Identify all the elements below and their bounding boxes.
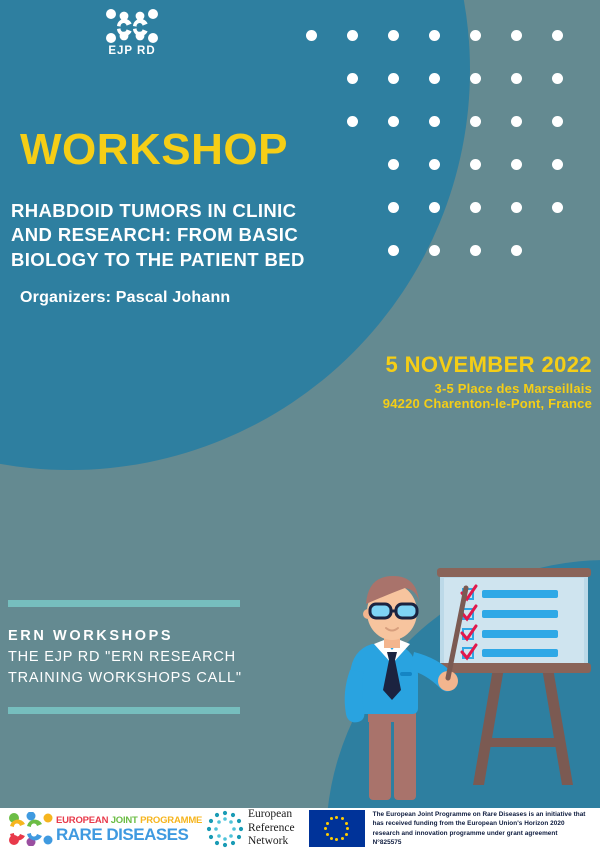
decorative-dot	[511, 159, 522, 170]
organizers-text: Organizers: Pascal Johann	[20, 289, 230, 307]
footer-bar: EUROPEAN JOINT PROGRAMME RARE DISEASES E…	[0, 808, 600, 849]
eu-flag-star	[346, 827, 349, 830]
eu-flag-star	[341, 817, 344, 820]
eu-flag-star	[335, 816, 338, 819]
decorative-dot	[511, 202, 522, 213]
eu-funding-line: N°825575	[373, 838, 586, 847]
divider-top	[8, 600, 240, 607]
decorative-dot	[429, 245, 440, 256]
decorative-dot	[470, 30, 481, 41]
eu-flag-star	[335, 838, 338, 841]
ern-heading: ERN WORKSHOPS	[8, 628, 173, 644]
decorative-dot	[388, 73, 399, 84]
event-date: 5 NOVEMBER 2022	[383, 352, 592, 378]
decorative-dot	[470, 116, 481, 127]
page-title: WORKSHOP	[20, 128, 288, 172]
decorative-dot	[429, 202, 440, 213]
event-details: 5 NOVEMBER 2022 3-5 Place des Marseillai…	[383, 352, 592, 411]
ejp-rd-footer-icon	[8, 812, 54, 846]
decorative-dot	[347, 116, 358, 127]
poster: EJP RD WORKSHOP RHABDOID TUMORS IN CLINI…	[0, 0, 600, 849]
decorative-dot	[429, 30, 440, 41]
decorative-dot	[552, 159, 563, 170]
ern-footer-logo: European Reference Network	[206, 808, 295, 849]
eu-flag-star	[341, 837, 344, 840]
ejp-rd-logo: EJP RD	[101, 8, 163, 60]
divider-bottom	[8, 707, 240, 714]
ejp-rd-people-icon	[104, 8, 160, 44]
ern-description-line: TRAINING WORKSHOPS CALL"	[8, 668, 258, 689]
decorative-dot	[552, 116, 563, 127]
eu-flag-star	[330, 817, 333, 820]
eu-funding-block: The European Joint Programme on Rare Dis…	[309, 810, 586, 847]
presenter-illustration	[330, 560, 600, 808]
decorative-dot	[511, 245, 522, 256]
decorative-dot	[470, 159, 481, 170]
eu-flag-star	[345, 833, 348, 836]
decorative-dot	[388, 159, 399, 170]
decorative-dot-grid	[306, 30, 600, 290]
event-address-line1: 3-5 Place des Marseillais	[383, 381, 592, 396]
ejp-rd-logo-text: EJP RD	[101, 45, 163, 57]
decorative-dot	[511, 30, 522, 41]
decorative-dot	[388, 245, 399, 256]
decorative-dot	[388, 30, 399, 41]
decorative-dot	[347, 73, 358, 84]
eu-flag-star	[326, 833, 329, 836]
eu-flag-star	[326, 822, 329, 825]
ern-network-icon	[206, 810, 244, 848]
event-address-line2: 94220 Charenton-le-Pont, France	[383, 396, 592, 411]
workshop-subtitle: RHABDOID TUMORS IN CLINIC AND RESEARCH: …	[11, 199, 341, 272]
decorative-dot	[552, 73, 563, 84]
ern-footer-line3: Network	[248, 835, 295, 849]
ern-footer-line1: European	[248, 808, 295, 822]
eu-funding-line: research and innovation programme under …	[373, 829, 586, 838]
ern-footer-text: European Reference Network	[248, 808, 295, 849]
eu-funding-line: has received funding from the European U…	[373, 819, 586, 828]
ejp-rd-footer-logo: EUROPEAN JOINT PROGRAMME RARE DISEASES	[8, 812, 204, 846]
decorative-dot	[429, 73, 440, 84]
eu-flag-icon	[309, 810, 365, 847]
subtitle-line: RHABDOID TUMORS IN CLINIC	[11, 199, 341, 223]
eu-flag-star	[345, 822, 348, 825]
decorative-dot	[470, 245, 481, 256]
decorative-dot	[511, 116, 522, 127]
decorative-dot	[347, 30, 358, 41]
ern-description-line: THE EJP RD "ERN RESEARCH	[8, 647, 258, 668]
eu-funding-text: The European Joint Programme on Rare Dis…	[373, 810, 586, 846]
ern-description: THE EJP RD "ERN RESEARCH TRAINING WORKSH…	[8, 647, 258, 689]
decorative-dot	[429, 159, 440, 170]
decorative-dot	[552, 202, 563, 213]
decorative-dot	[552, 30, 563, 41]
eu-flag-star	[330, 837, 333, 840]
eu-funding-line: The European Joint Programme on Rare Dis…	[373, 810, 586, 819]
subtitle-line: AND RESEARCH: FROM BASIC	[11, 223, 341, 247]
ern-footer-line2: Reference	[248, 822, 295, 836]
decorative-dot	[429, 116, 440, 127]
decorative-dot	[306, 30, 317, 41]
decorative-dot	[388, 202, 399, 213]
decorative-dot	[470, 202, 481, 213]
eu-flag-star	[324, 827, 327, 830]
subtitle-line: BIOLOGY TO THE PATIENT BED	[11, 248, 341, 272]
decorative-dot	[470, 73, 481, 84]
ejp-footer-line2: RARE DISEASES	[56, 825, 188, 845]
decorative-dot	[511, 73, 522, 84]
decorative-dot	[388, 116, 399, 127]
